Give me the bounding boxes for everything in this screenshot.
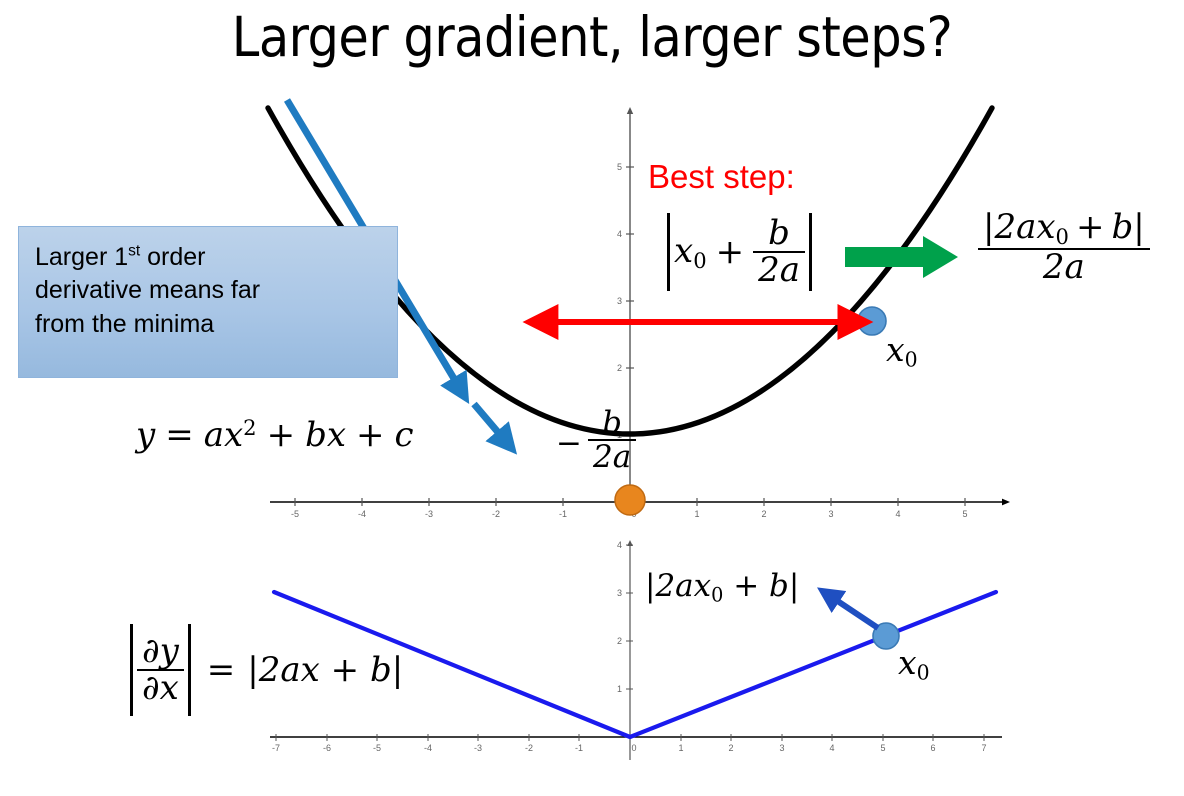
callout-line-1: Larger 1st order: [35, 241, 381, 274]
callout-line-1-text: Larger 1: [35, 243, 128, 271]
callout-line-1-tail: order: [140, 243, 205, 271]
blue-descent-arrow-2: [474, 404, 508, 444]
blue-label-arrow: [827, 594, 878, 628]
arrow-layer: [0, 0, 1184, 796]
slide-canvas: Larger gradient, larger steps?: [0, 0, 1184, 796]
ordinal-suffix: st: [128, 243, 140, 260]
green-right-arrow: [845, 236, 958, 278]
callout-textbox: Larger 1st order derivative means far fr…: [18, 226, 398, 378]
callout-line-3: from the minima: [35, 308, 381, 341]
callout-line-2: derivative means far: [35, 274, 381, 307]
